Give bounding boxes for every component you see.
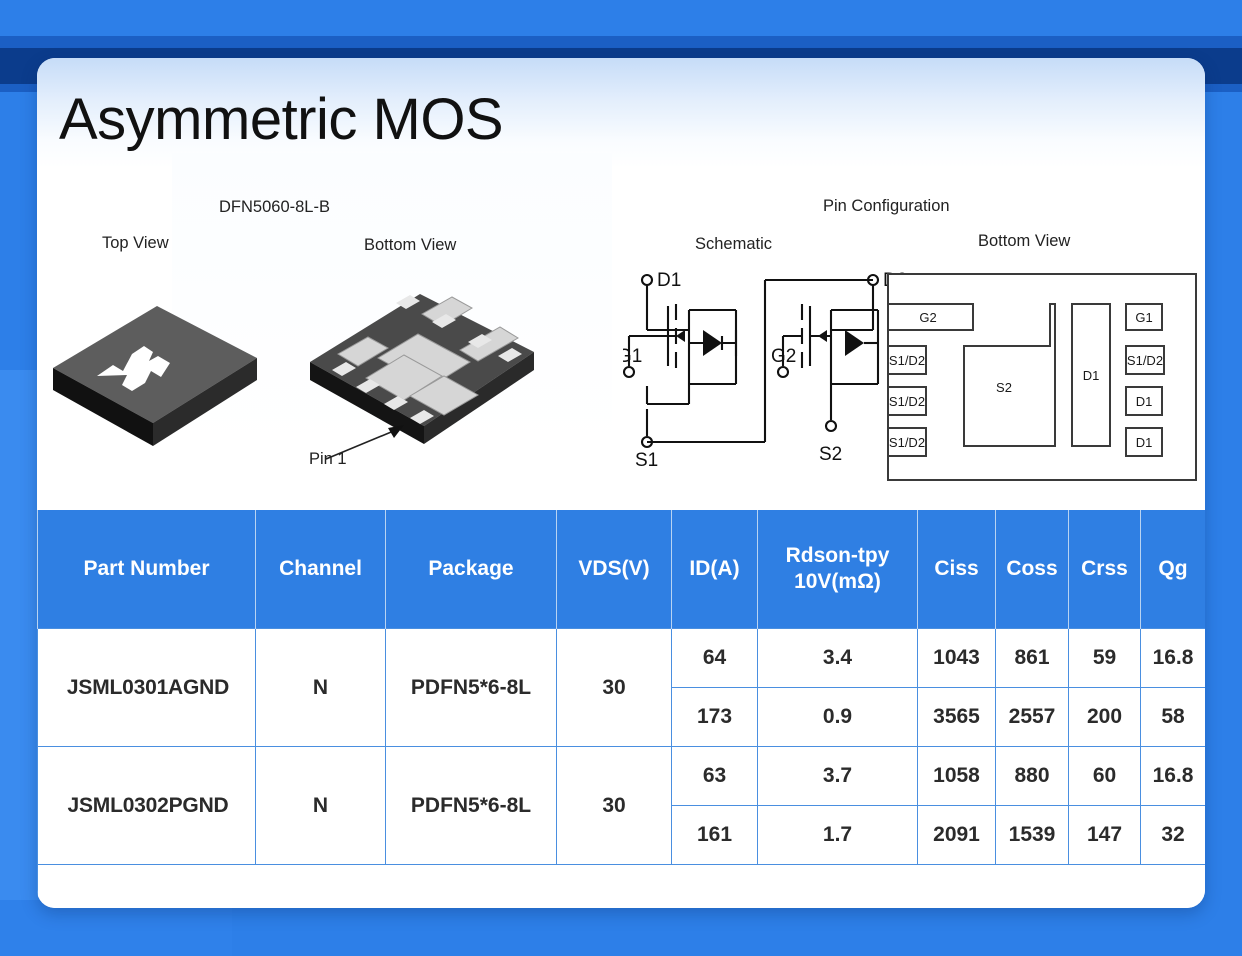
cell-qg: 16.8 [1141,747,1206,806]
cell-coss: 2557 [996,688,1069,747]
column-header-rdson-line1: Rdson-tpy [786,544,890,567]
cell-crss: 200 [1069,688,1141,747]
svg-text:D1: D1 [1083,368,1100,383]
cell-crss: 147 [1069,806,1141,865]
svg-text:S1/D2: S1/D2 [1127,353,1163,368]
svg-text:S1/D2: S1/D2 [889,435,925,450]
package-bottom-view-image [292,254,552,464]
cell-ciss: 3565 [918,688,996,747]
cell-ciss: 2091 [918,806,996,865]
svg-text:D1: D1 [1136,394,1153,409]
cell-rdson: 1.7 [758,806,918,865]
column-header-package: Package [386,510,557,629]
cell-part-number: JSML0301AGND [38,629,256,747]
cell-qg: 58 [1141,688,1206,747]
cell-package: PDFN5*6-8L [386,629,557,747]
column-header-rdson-line2: 10V(mΩ) [794,570,881,593]
cell-id: 161 [672,806,758,865]
pin-configuration-label: Pin Configuration [823,197,950,216]
cell-qg: 16.8 [1141,629,1206,688]
svg-text:D1: D1 [1136,435,1153,450]
svg-text:S1: S1 [635,450,658,469]
column-header-crss: Crss [1069,510,1141,629]
column-header-rdson: Rdson-tpy 10V(mΩ) [758,510,918,629]
cell-id: 64 [672,629,758,688]
column-header-coss: Coss [996,510,1069,629]
svg-text:G2: G2 [919,310,936,325]
svg-text:G1: G1 [623,346,642,367]
cell-coss: 1539 [996,806,1069,865]
table-row: JSML0301AGND N PDFN5*6-8L 30 64 3.4 1043… [38,629,1206,688]
table-header-row: Part Number Channel Package VDS(V) ID(A)… [38,510,1206,629]
background-accent-bottom-left [0,900,232,956]
page-title: Asymmetric MOS [59,86,503,153]
svg-text:G1: G1 [1135,310,1152,325]
pin-configuration-diagram: G2 S1/D2 S1/D2 S1/D2 G1 S1/D2 D1 D1 S2 D… [882,268,1202,488]
table-row: JSML0302PGND N PDFN5*6-8L 30 63 3.7 1058… [38,747,1206,806]
cell-ciss: 1043 [918,629,996,688]
table-body: JSML0301AGND N PDFN5*6-8L 30 64 3.4 1043… [38,629,1206,909]
column-header-ciss: Ciss [918,510,996,629]
cell-part-number: JSML0302PGND [38,747,256,865]
svg-text:D1: D1 [657,270,681,291]
bottom-view-label: Bottom View [364,236,456,255]
cell-id: 63 [672,747,758,806]
svg-text:S1/D2: S1/D2 [889,394,925,409]
schematic-label: Schematic [695,235,772,254]
cell-crss: 60 [1069,747,1141,806]
cell-package: PDFN5*6-8L [386,747,557,865]
cell-vds: 30 [557,747,672,865]
column-header-qg: Qg [1141,510,1206,629]
column-header-vds: VDS(V) [557,510,672,629]
svg-text:S2: S2 [819,444,842,465]
cell-empty [38,865,1206,909]
column-header-part-number: Part Number [38,510,256,629]
schematic-diagram: D1 G1 S1 D2 G2 [623,254,913,469]
svg-text:S2: S2 [996,380,1012,395]
cell-coss: 861 [996,629,1069,688]
cell-channel: N [256,629,386,747]
svg-text:S1/D2: S1/D2 [889,353,925,368]
cell-rdson: 3.4 [758,629,918,688]
column-header-channel: Channel [256,510,386,629]
top-view-label: Top View [102,234,169,253]
cell-id: 173 [672,688,758,747]
package-name-label: DFN5060-8L-B [219,198,330,217]
cell-ciss: 1058 [918,747,996,806]
specifications-table: Part Number Channel Package VDS(V) ID(A)… [37,510,1205,908]
content-card: Asymmetric MOS DFN5060-8L-B Top View Bot… [37,58,1205,908]
cell-rdson: 0.9 [758,688,918,747]
cell-qg: 32 [1141,806,1206,865]
package-top-view-image [45,258,265,458]
cell-rdson: 3.7 [758,747,918,806]
cell-coss: 880 [996,747,1069,806]
svg-text:G2: G2 [771,346,796,367]
pinout-bottom-view-label: Bottom View [978,232,1070,251]
table-empty-row [38,865,1206,909]
cell-vds: 30 [557,629,672,747]
cell-crss: 59 [1069,629,1141,688]
cell-channel: N [256,747,386,865]
column-header-id: ID(A) [672,510,758,629]
